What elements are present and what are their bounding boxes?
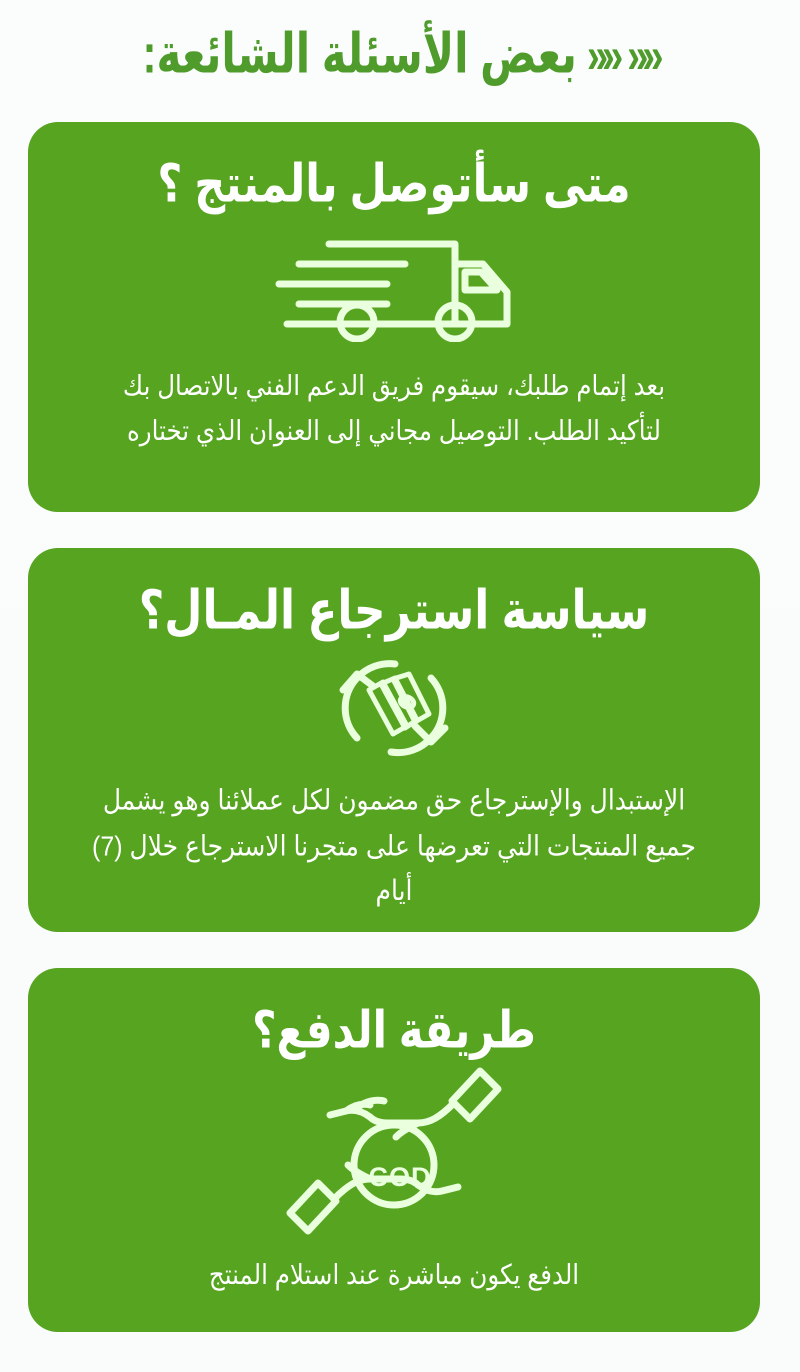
faq-card-delivery-title: متى سأتوصل بالمنتج ؟ <box>50 122 738 216</box>
faq-card-payment[interactable]: طريقة الدفع؟ الدفع يكون مباشرة عند اس <box>28 968 760 1332</box>
header-inner: ««««بعض الأسئلة الشائعة: <box>142 8 657 82</box>
delivery-truck-icon <box>50 233 738 343</box>
faq-card-delivery[interactable]: متى سأتوصل بالمنتج ؟ بعد إتمام طلبك <box>28 122 760 512</box>
double-chevron-left-icon-2: «« <box>587 32 617 82</box>
faq-card-refund[interactable]: سياسة استرجاع المـال؟ <box>28 548 760 932</box>
faq-card-refund-title: سياسة استرجاع المـال؟ <box>50 548 738 643</box>
money-back-refund-icon <box>50 652 738 764</box>
page-title: بعض الأسئلة الشائعة: <box>142 26 576 81</box>
faq-card-delivery-body: بعد إتمام طلبك، سيقوم فريق الدعم الفني ب… <box>50 365 738 454</box>
page-header: ««««بعض الأسئلة الشائعة: <box>0 0 800 108</box>
cash-on-delivery-icon <box>50 1062 738 1240</box>
faq-card-refund-body: الإستبدال والإسترجاع حق مضمون لكل عملائن… <box>50 778 738 914</box>
faq-card-payment-body: الدفع يكون مباشرة عند استلام المنتج <box>50 1254 738 1298</box>
faq-card-payment-title: طريقة الدفع؟ <box>50 968 738 1060</box>
double-chevron-left-icon: «« <box>627 32 657 82</box>
faq-page: ««««بعض الأسئلة الشائعة: متى سأتوصل بالم… <box>0 0 800 1372</box>
